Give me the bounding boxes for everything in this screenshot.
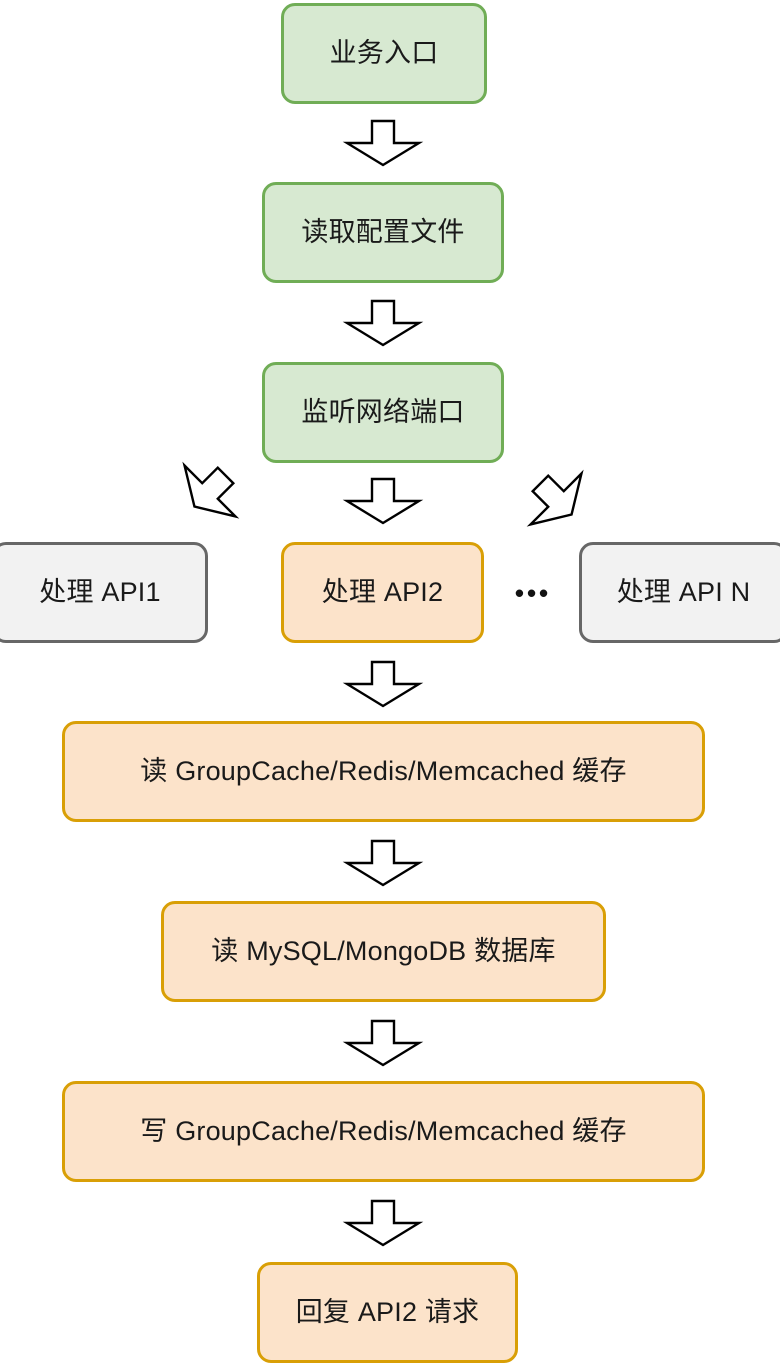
node-apin-label: 处理 API N (617, 576, 751, 610)
arrow-listen-to-api2 (345, 478, 421, 524)
node-api2[interactable]: 处理 API2 (281, 542, 484, 643)
arrow-write-cache-to-reply (345, 1200, 421, 1246)
node-read-db[interactable]: 读 MySQL/MongoDB 数据库 (161, 901, 606, 1002)
arrow-entry-to-read-config (345, 120, 421, 166)
ellipsis-label: ••• (515, 580, 551, 606)
arrow-read-config-to-listen (345, 300, 421, 346)
arrow-listen-to-apin (504, 447, 609, 552)
ellipsis-more-apis: ••• (504, 575, 562, 611)
node-api1-label: 处理 API1 (39, 576, 160, 610)
node-read-cache[interactable]: 读 GroupCache/Redis/Memcached 缓存 (62, 721, 705, 822)
node-reply-label: 回复 API2 请求 (296, 1296, 480, 1330)
node-apin[interactable]: 处理 API N (579, 542, 780, 643)
node-reply[interactable]: 回复 API2 请求 (257, 1262, 518, 1363)
node-listen-port[interactable]: 监听网络端口 (262, 362, 504, 463)
arrow-read-db-to-write-cache (345, 1020, 421, 1066)
arrow-read-cache-to-read-db (345, 840, 421, 886)
node-api2-label: 处理 API2 (322, 576, 443, 610)
node-read-db-label: 读 MySQL/MongoDB 数据库 (211, 935, 555, 969)
node-api1[interactable]: 处理 API1 (0, 542, 208, 643)
flowchart-canvas: 业务入口 读取配置文件 监听网络端口 处理 A (0, 0, 780, 1364)
node-write-cache[interactable]: 写 GroupCache/Redis/Memcached 缓存 (62, 1081, 705, 1182)
node-write-cache-label: 写 GroupCache/Redis/Memcached 缓存 (140, 1115, 626, 1149)
node-read-cache-label: 读 GroupCache/Redis/Memcached 缓存 (140, 755, 626, 789)
node-entry-label: 业务入口 (330, 37, 439, 71)
node-read-config-label: 读取配置文件 (301, 216, 464, 250)
arrow-api2-to-read-cache (345, 661, 421, 707)
node-read-config[interactable]: 读取配置文件 (262, 182, 504, 283)
node-listen-port-label: 监听网络端口 (301, 396, 464, 430)
node-entry[interactable]: 业务入口 (281, 3, 487, 104)
arrow-listen-to-api1 (158, 439, 263, 544)
